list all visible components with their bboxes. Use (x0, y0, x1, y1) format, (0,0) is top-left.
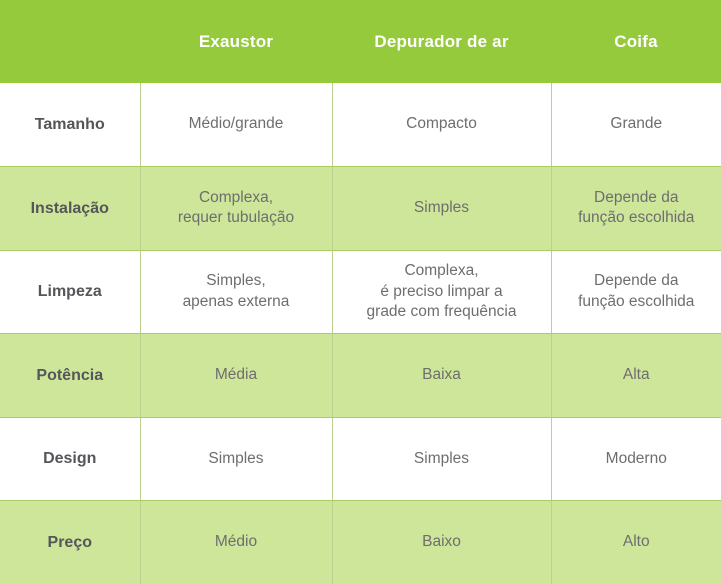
cell-text-line: Média (149, 365, 324, 385)
cell-text: Simples,apenas externa (149, 271, 324, 312)
header-row: Exaustor Depurador de ar Coifa (0, 0, 721, 83)
cell-text-line: apenas externa (149, 292, 324, 312)
table-cell: Baixa (332, 334, 551, 418)
table-cell: Simples (140, 417, 332, 501)
table-cell: Simples,apenas externa (140, 250, 332, 334)
cell-text: Alta (560, 365, 714, 385)
cell-text-line: Moderno (560, 449, 714, 469)
table-row: TamanhoMédio/grandeCompactoGrande (0, 83, 721, 167)
cell-text: Alto (560, 532, 714, 552)
table-cell: Simples (332, 417, 551, 501)
table-cell: Compacto (332, 83, 551, 167)
table-cell: Médio/grande (140, 83, 332, 167)
cell-text: Médio/grande (149, 114, 324, 134)
table-row: DesignSimplesSimplesModerno (0, 417, 721, 501)
cell-text-line: Médio (149, 532, 324, 552)
table-header: Exaustor Depurador de ar Coifa (0, 0, 721, 83)
row-label-cell: Limpeza (0, 250, 140, 334)
table-cell: Médio (140, 501, 332, 584)
cell-text-line: Simples (341, 198, 543, 218)
cell-text: Baixa (341, 365, 543, 385)
table-row: PotênciaMédiaBaixaAlta (0, 334, 721, 418)
cell-text: Complexa,requer tubulação (149, 188, 324, 229)
cell-text-line: grade com frequência (341, 302, 543, 322)
cell-text-line: requer tubulação (149, 208, 324, 228)
table-cell: Grande (551, 83, 721, 167)
header-cell-depurador: Depurador de ar (332, 0, 551, 83)
cell-text-line: Alta (560, 365, 714, 385)
cell-text: Moderno (560, 449, 714, 469)
cell-text-line: Depende da (560, 188, 714, 208)
table-body: TamanhoMédio/grandeCompactoGrandeInstala… (0, 83, 721, 584)
table-cell: Depende dafunção escolhida (551, 250, 721, 334)
table-cell: Complexa,é preciso limpar agrade com fre… (332, 250, 551, 334)
row-label-cell: Design (0, 417, 140, 501)
row-label-cell: Instalação (0, 167, 140, 251)
table-cell: Simples (332, 167, 551, 251)
table-row: InstalaçãoComplexa,requer tubulaçãoSimpl… (0, 167, 721, 251)
table-cell: Média (140, 334, 332, 418)
table-row: LimpezaSimples,apenas externaComplexa,é … (0, 250, 721, 334)
table-cell: Alto (551, 501, 721, 584)
cell-text: Baixo (341, 532, 543, 552)
cell-text: Simples (341, 198, 543, 218)
cell-text: Depende dafunção escolhida (560, 271, 714, 312)
table-cell: Alta (551, 334, 721, 418)
row-label-cell: Tamanho (0, 83, 140, 167)
cell-text: Depende dafunção escolhida (560, 188, 714, 229)
cell-text: Médio (149, 532, 324, 552)
cell-text-line: Médio/grande (149, 114, 324, 134)
cell-text: Grande (560, 114, 714, 134)
header-cell-coifa: Coifa (551, 0, 721, 83)
cell-text: Simples (149, 449, 324, 469)
table-cell: Baixo (332, 501, 551, 584)
cell-text: Complexa,é preciso limpar agrade com fre… (341, 261, 543, 322)
cell-text-line: Simples, (149, 271, 324, 291)
cell-text-line: Simples (341, 449, 543, 469)
row-label-cell: Preço (0, 501, 140, 584)
cell-text-line: Baixo (341, 532, 543, 552)
table-row: PreçoMédioBaixoAlto (0, 501, 721, 584)
table-cell: Complexa,requer tubulação (140, 167, 332, 251)
cell-text: Simples (341, 449, 543, 469)
table-cell: Depende dafunção escolhida (551, 167, 721, 251)
cell-text-line: função escolhida (560, 292, 714, 312)
comparison-table: Exaustor Depurador de ar Coifa TamanhoMé… (0, 0, 721, 584)
cell-text-line: Complexa, (341, 261, 543, 281)
cell-text-line: função escolhida (560, 208, 714, 228)
cell-text: Compacto (341, 114, 543, 134)
cell-text-line: Grande (560, 114, 714, 134)
cell-text-line: Simples (149, 449, 324, 469)
table-cell: Moderno (551, 417, 721, 501)
header-corner-cell (0, 0, 140, 83)
cell-text-line: Complexa, (149, 188, 324, 208)
cell-text-line: Compacto (341, 114, 543, 134)
header-cell-exaustor: Exaustor (140, 0, 332, 83)
cell-text-line: Depende da (560, 271, 714, 291)
cell-text-line: Baixa (341, 365, 543, 385)
cell-text-line: Alto (560, 532, 714, 552)
row-label-cell: Potência (0, 334, 140, 418)
cell-text-line: é preciso limpar a (341, 282, 543, 302)
cell-text: Média (149, 365, 324, 385)
